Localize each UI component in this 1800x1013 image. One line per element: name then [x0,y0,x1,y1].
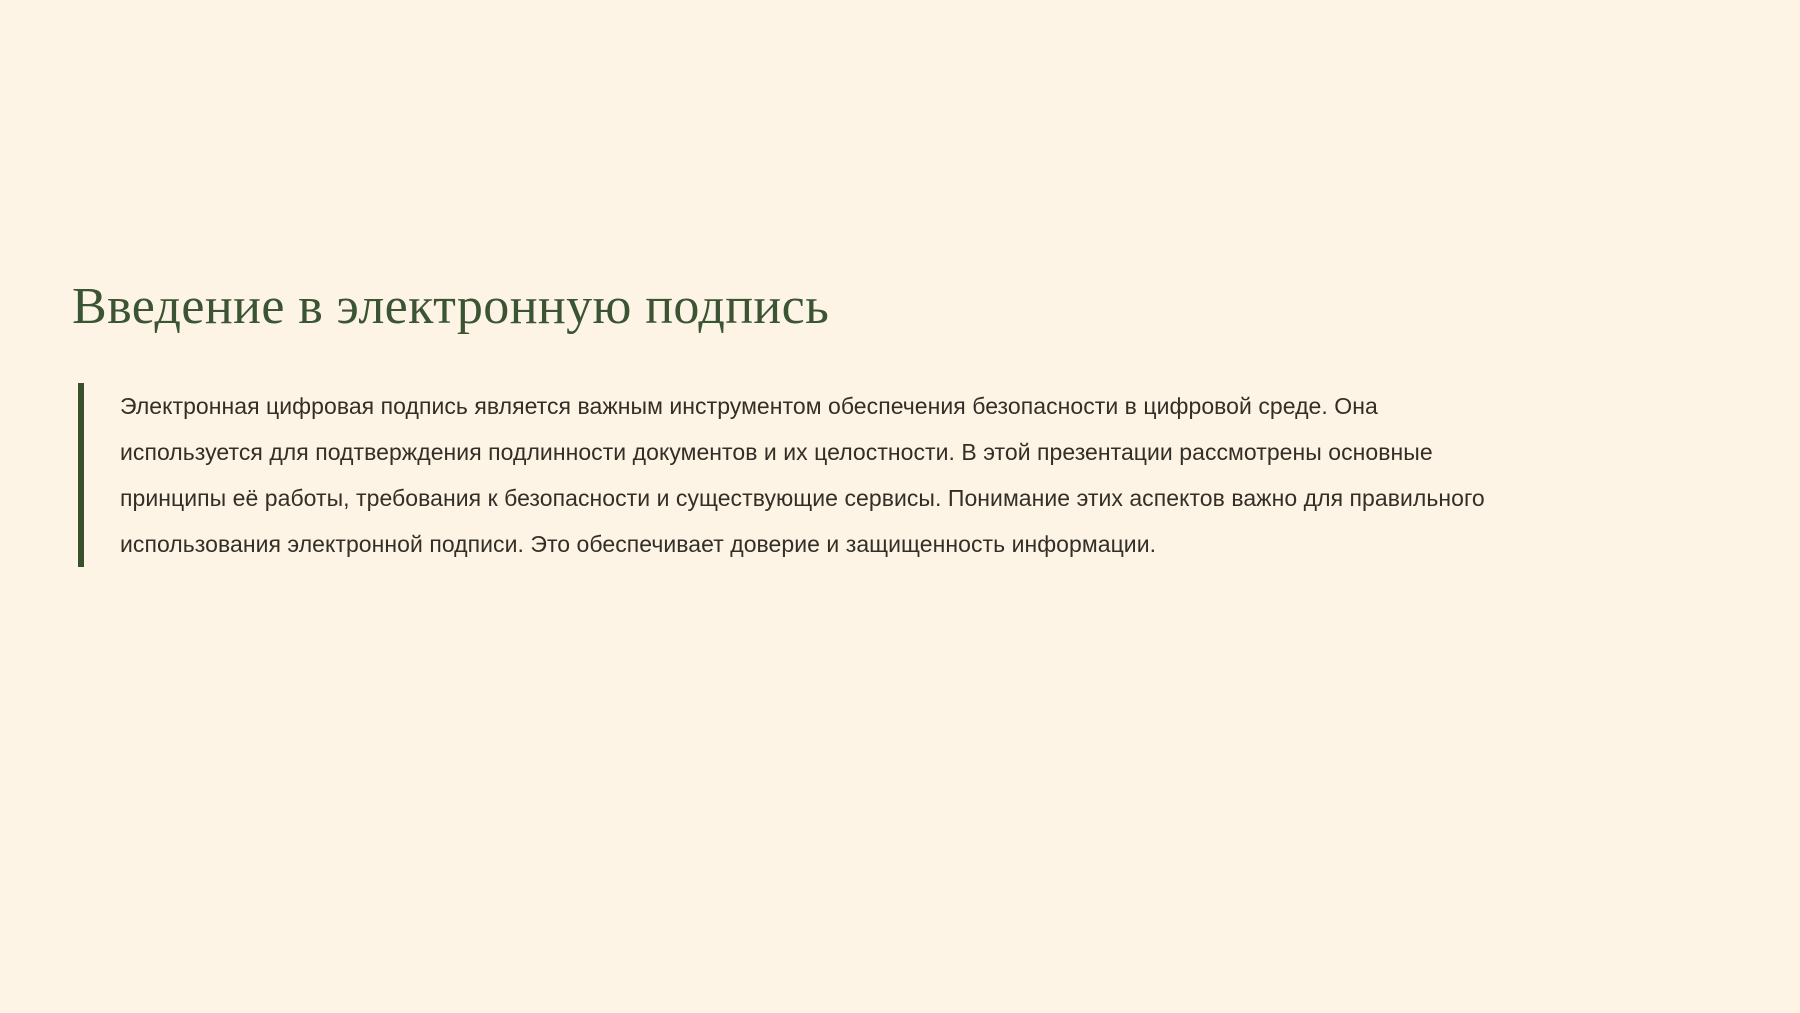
slide-title: Введение в электронную подпись [72,278,1672,336]
slide-body-text: Электронная цифровая подпись является ва… [84,383,1510,567]
body-callout-block: Электронная цифровая подпись является ва… [78,383,1510,567]
presentation-slide: Введение в электронную подпись Электронн… [0,0,1800,1013]
